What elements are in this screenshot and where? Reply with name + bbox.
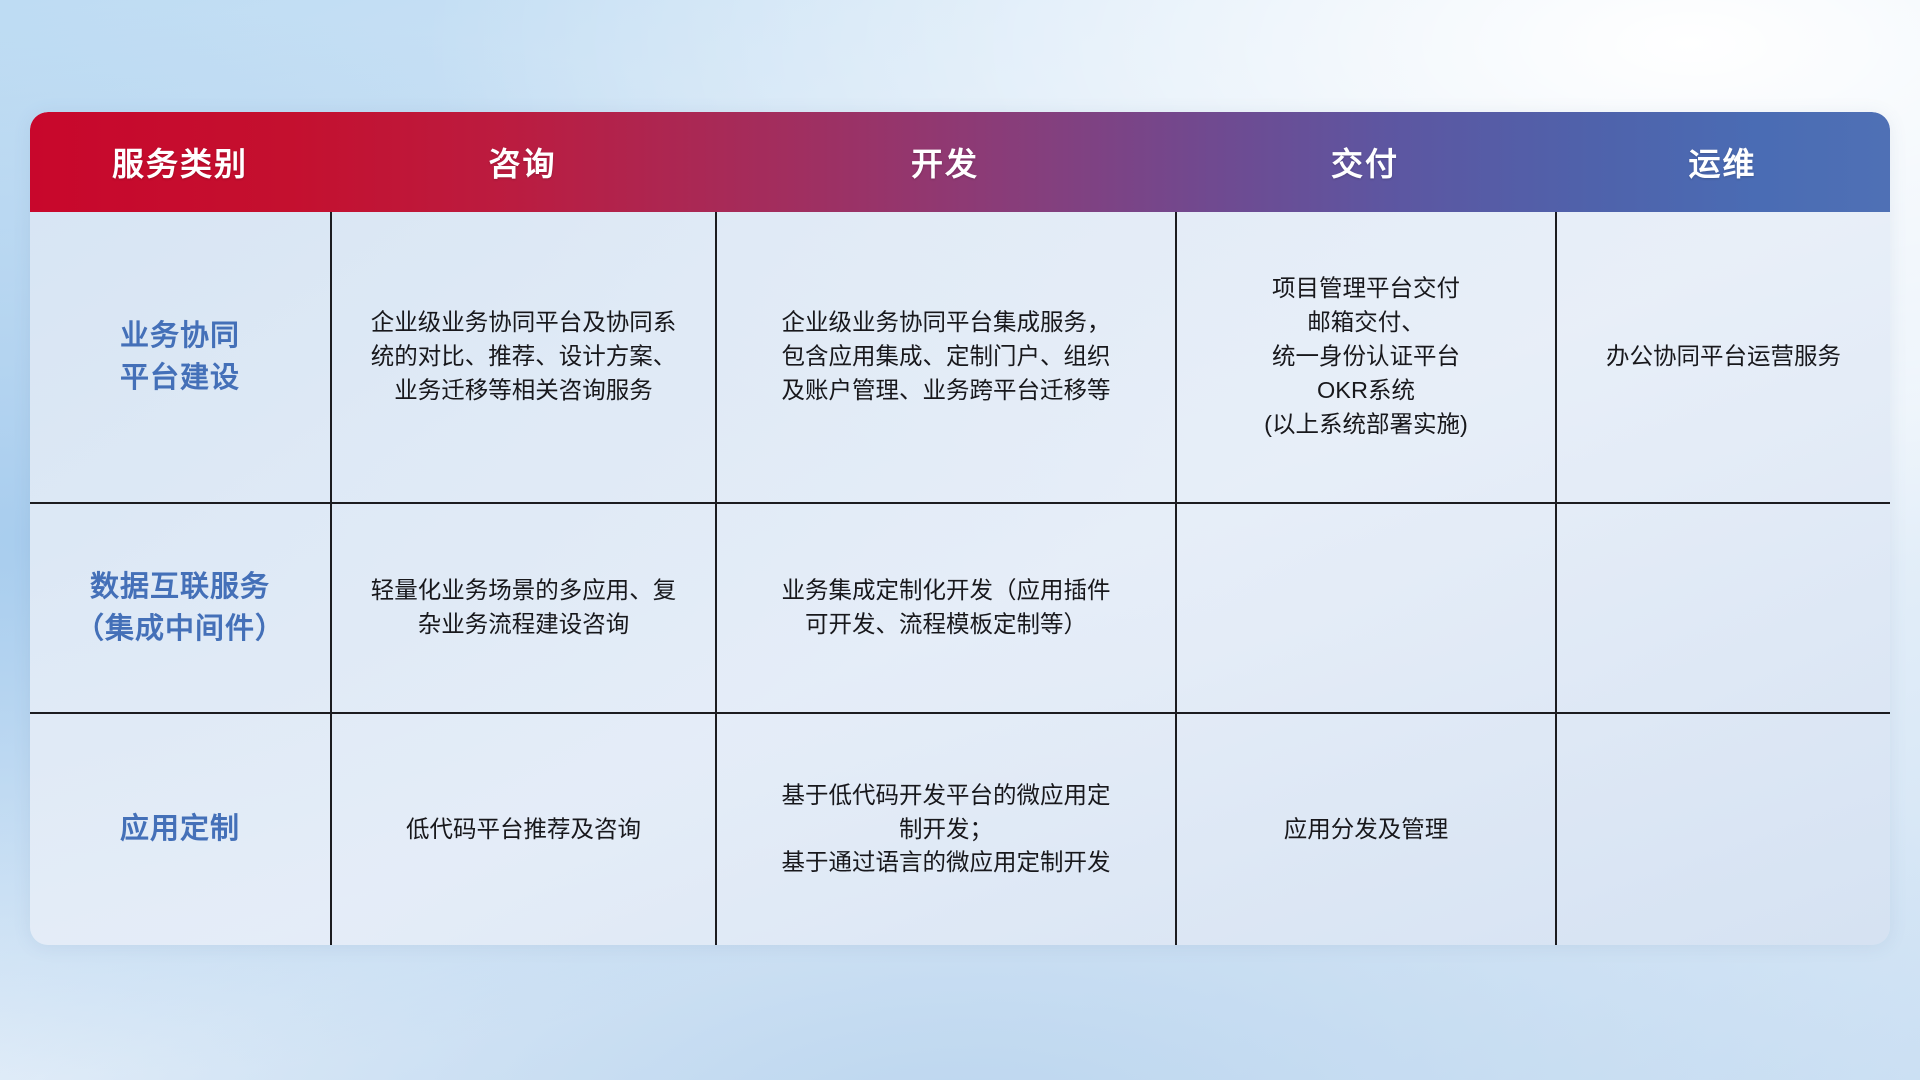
table-header-row: 服务类别 咨询 开发 交付 运维 (30, 112, 1890, 212)
table-body: 业务协同 平台建设 企业级业务协同平台及协同系 统的对比、推荐、设计方案、 业务… (30, 212, 1890, 945)
column-header-consulting: 咨询 (330, 112, 715, 212)
table-row: 应用定制 低代码平台推荐及咨询 基于低代码开发平台的微应用定 制开发； 基于通过… (30, 712, 1890, 945)
cell-consulting: 企业级业务协同平台及协同系 统的对比、推荐、设计方案、 业务迁移等相关咨询服务 (330, 212, 715, 502)
column-header-operations: 运维 (1555, 112, 1890, 212)
service-matrix-table: 服务类别 咨询 开发 交付 运维 业务协同 平台建设 企业级业务协同平台及协同系… (30, 112, 1890, 945)
row-category-label: 应用定制 (30, 714, 330, 945)
cell-operations (1555, 714, 1890, 945)
cell-development: 基于低代码开发平台的微应用定 制开发； 基于通过语言的微应用定制开发 (715, 714, 1175, 945)
table-row: 业务协同 平台建设 企业级业务协同平台及协同系 统的对比、推荐、设计方案、 业务… (30, 212, 1890, 502)
cell-operations: 办公协同平台运营服务 (1555, 212, 1890, 502)
cell-consulting: 低代码平台推荐及咨询 (330, 714, 715, 945)
row-category-label: 数据互联服务 （集成中间件） (30, 504, 330, 712)
column-header-development: 开发 (715, 112, 1175, 212)
cell-operations (1555, 504, 1890, 712)
cell-delivery (1175, 504, 1555, 712)
cell-development: 企业级业务协同平台集成服务， 包含应用集成、定制门户、组织 及账户管理、业务跨平… (715, 212, 1175, 502)
cell-consulting: 轻量化业务场景的多应用、复 杂业务流程建设咨询 (330, 504, 715, 712)
cell-development: 业务集成定制化开发（应用插件 可开发、流程模板定制等） (715, 504, 1175, 712)
row-category-label: 业务协同 平台建设 (30, 212, 330, 502)
cell-delivery: 项目管理平台交付 邮箱交付、 统一身份认证平台 OKR系统 (以上系统部署实施) (1175, 212, 1555, 502)
table-row: 数据互联服务 （集成中间件） 轻量化业务场景的多应用、复 杂业务流程建设咨询 业… (30, 502, 1890, 712)
column-header-delivery: 交付 (1175, 112, 1555, 212)
column-header-service-category: 服务类别 (30, 112, 330, 212)
cell-delivery: 应用分发及管理 (1175, 714, 1555, 945)
